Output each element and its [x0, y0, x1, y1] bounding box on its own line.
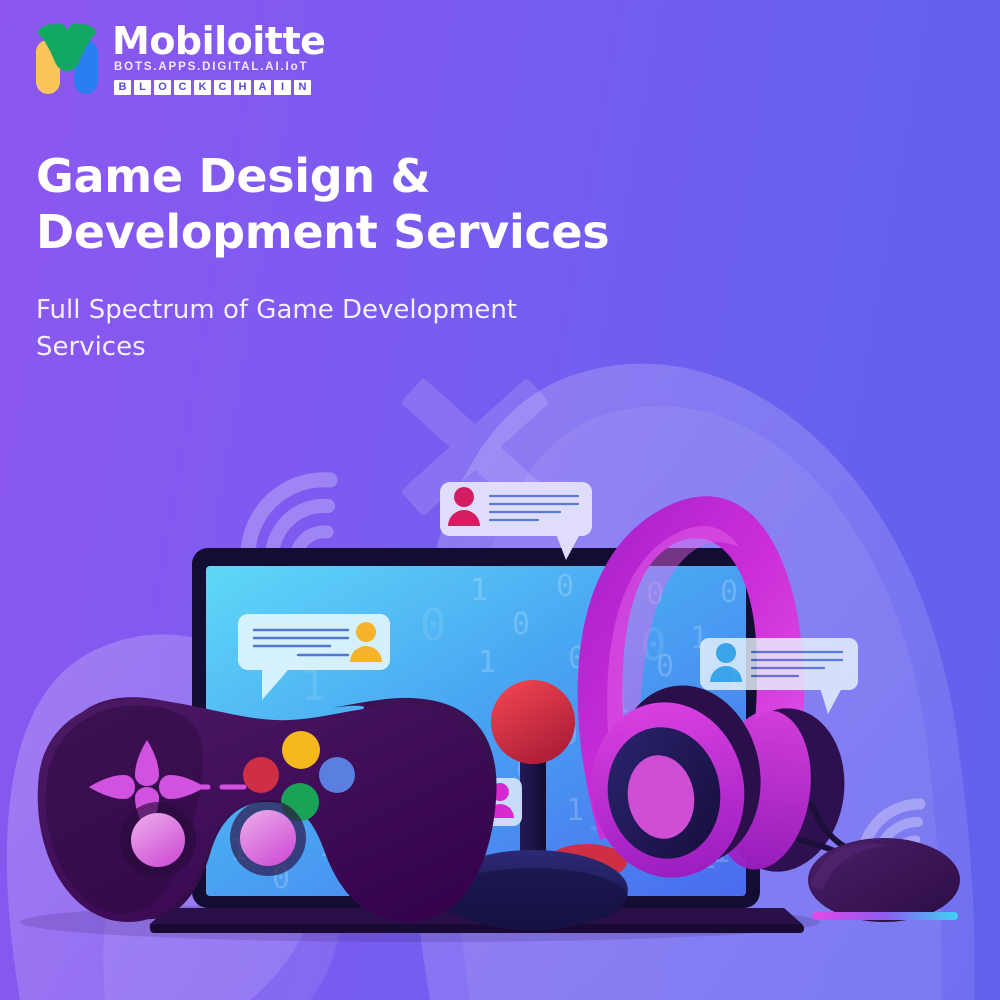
gamepad-button-right[interactable] — [319, 757, 355, 793]
gamepad-stick-left[interactable] — [131, 813, 185, 867]
svg-text:0: 0 — [720, 575, 738, 610]
svg-text:1: 1 — [478, 645, 496, 680]
svg-text:1: 1 — [470, 573, 488, 608]
svg-text:0: 0 — [420, 600, 447, 651]
svg-text:0: 0 — [556, 569, 574, 604]
svg-text:1: 1 — [566, 793, 584, 828]
joystick-ball — [491, 680, 575, 764]
laptop-base-edge — [150, 924, 804, 933]
svg-text:0: 0 — [512, 607, 530, 642]
mouse-light-strip — [812, 912, 958, 920]
gamepad-stick-right[interactable] — [240, 810, 296, 866]
poster-canvas: Mobiloitte BOTS.APPS.DIGITAL.AI.IoT B L … — [0, 0, 1000, 1000]
mouse-body — [808, 838, 960, 922]
gamepad-button-top[interactable] — [282, 731, 320, 769]
game-development-illustration: 100 101 100 101 100 110 011 001 010 1 10… — [0, 0, 1000, 1000]
gamepad-button-left[interactable] — [243, 757, 279, 793]
